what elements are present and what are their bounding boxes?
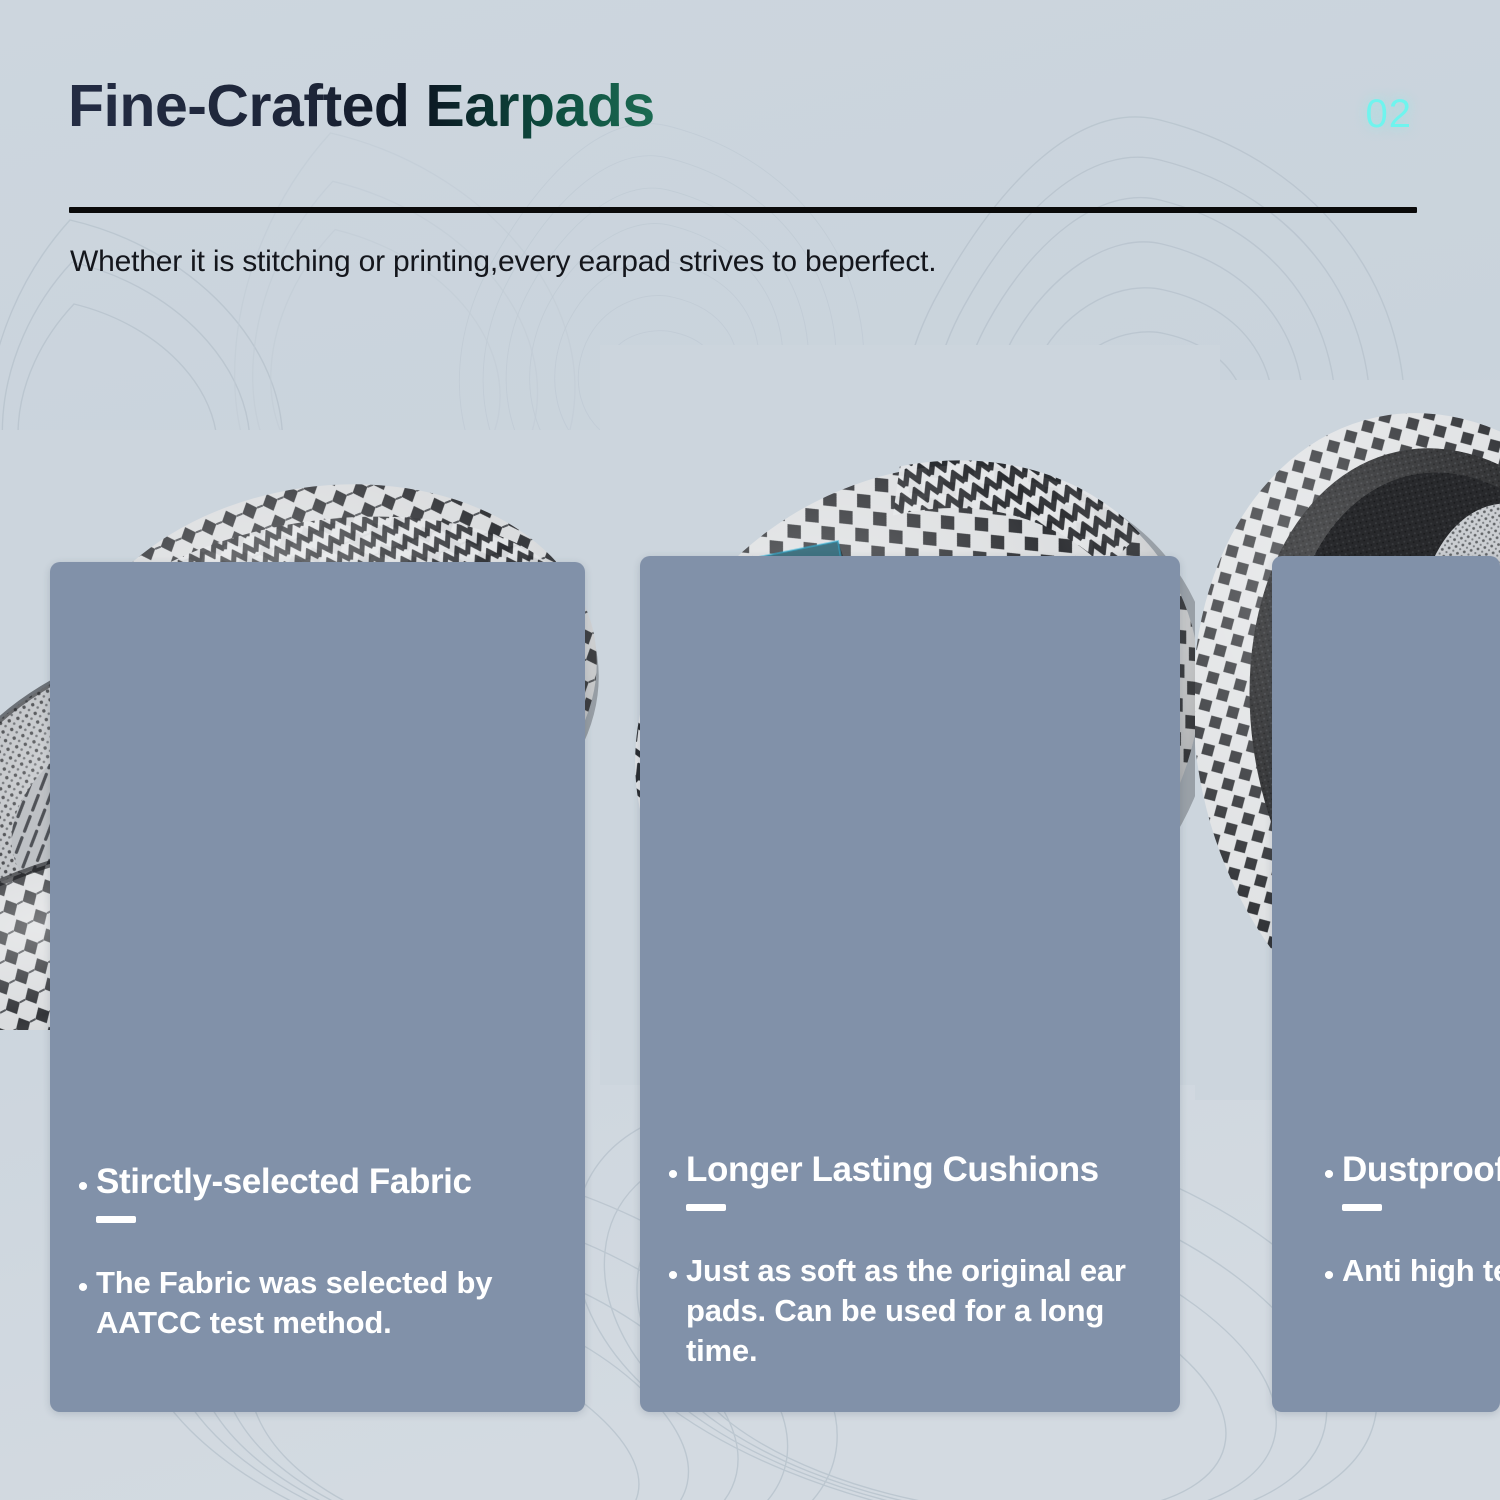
feature-body-text: The Fabric was selected by AATCC test me…: [96, 1263, 559, 1342]
bullet-dot-icon: •: [660, 1251, 686, 1291]
bullet-dot-icon: •: [1316, 1150, 1342, 1190]
feature-body-text: Just as soft as the original ear pads. C…: [686, 1251, 1154, 1370]
feature-card-fabric-body: • Stirctly-selected Fabric • The Fabric …: [50, 1162, 585, 1412]
feature-card-dustproof: • Dustproof • Anti high temperature seal…: [1272, 556, 1500, 1412]
bullet-dot-icon: •: [1316, 1251, 1342, 1291]
feature-headline-row: • Stirctly-selected Fabric: [50, 1162, 585, 1202]
feature-headline-row: • Longer Lasting Cushions: [640, 1150, 1180, 1190]
feature-card-fabric: • Stirctly-selected Fabric • The Fabric …: [50, 562, 585, 1412]
page-number-badge: 02: [1366, 92, 1413, 137]
feature-headline: Longer Lasting Cushions: [686, 1150, 1099, 1190]
feature-card-cushions-body: • Longer Lasting Cushions • Just as soft…: [640, 1150, 1180, 1412]
title-divider-rule: [69, 207, 1417, 213]
feature-headline: Stirctly-selected Fabric: [96, 1162, 472, 1202]
headline-underline-dash: [686, 1204, 726, 1211]
headline-underline-dash: [1342, 1204, 1382, 1211]
bullet-dot-icon: •: [70, 1162, 96, 1202]
feature-headline: Dustproof: [1342, 1150, 1500, 1190]
page-title: Fine-Crafted Earpads: [68, 72, 655, 140]
headline-underline-dash: [96, 1216, 136, 1223]
page-header: Fine-Crafted Earpads 02 Whether it is st…: [0, 0, 1500, 310]
feature-card-dustproof-body: • Dustproof • Anti high temperature seal…: [1272, 1150, 1500, 1412]
feature-card-cushions: • Longer Lasting Cushions • Just as soft…: [640, 556, 1180, 1412]
feature-body-row: • Just as soft as the original ear pads.…: [640, 1251, 1180, 1370]
feature-body-text: Anti high temperature sealing pad.: [1342, 1251, 1500, 1291]
page-subtitle: Whether it is stitching or printing,ever…: [70, 245, 936, 279]
feature-headline-row: • Dustproof: [1272, 1150, 1500, 1190]
feature-body-row: • The Fabric was selected by AATCC test …: [50, 1263, 585, 1342]
bullet-dot-icon: •: [70, 1263, 96, 1303]
feature-body-row: • Anti high temperature sealing pad.: [1272, 1251, 1500, 1291]
bullet-dot-icon: •: [660, 1150, 686, 1190]
